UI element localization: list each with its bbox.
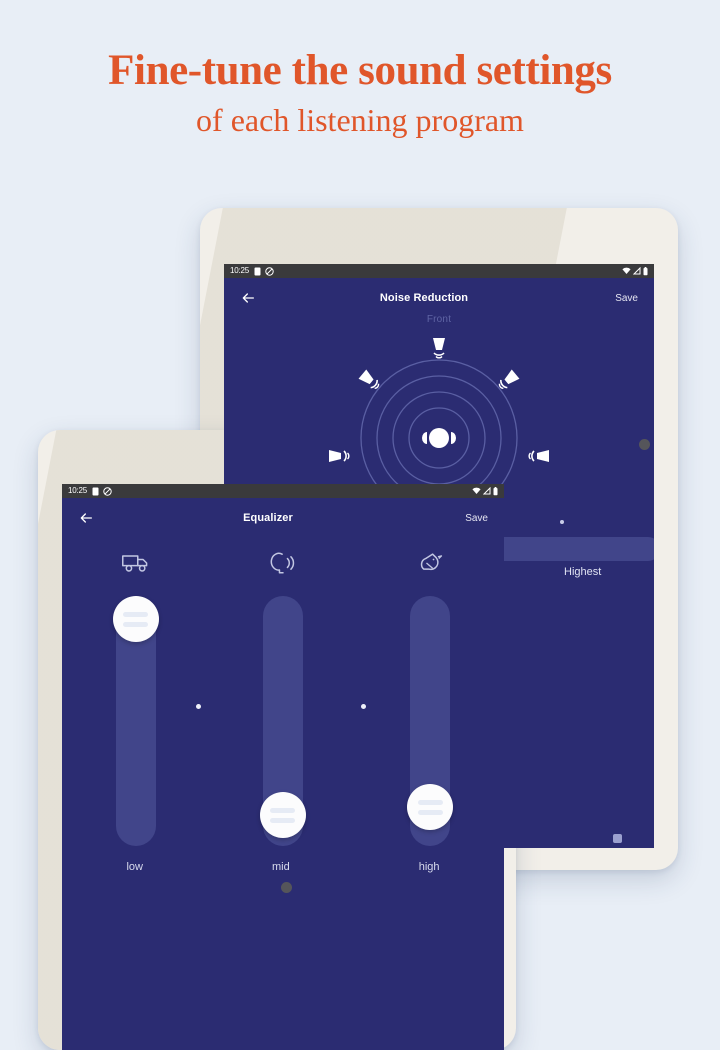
battery-icon	[493, 487, 498, 496]
band-label-low: low	[126, 861, 143, 873]
promo-stage: Fine-tune the sound settings of each lis…	[0, 0, 720, 960]
slider-tick-dot	[560, 520, 564, 524]
slider-value-label: Highest	[564, 566, 601, 578]
bird-icon	[415, 550, 445, 576]
status-bar: 10:25	[224, 264, 654, 278]
status-right-icons	[472, 487, 498, 496]
battery-icon	[643, 267, 648, 276]
headline-line-1: Fine-tune the sound settings	[0, 48, 720, 93]
slider-thumb-low[interactable]	[113, 596, 159, 642]
speaking-head-icon	[268, 550, 298, 576]
head-top-view-icon	[422, 428, 456, 448]
app-bar-equalizer: Equalizer Save	[62, 498, 504, 538]
slider-tick-dot	[196, 704, 201, 709]
status-time: 10:25	[230, 267, 249, 275]
front-camera	[281, 882, 292, 893]
signal-icon	[633, 267, 641, 275]
save-data-icon	[92, 487, 99, 496]
save-button[interactable]: Save	[592, 293, 638, 304]
slider-low[interactable]	[113, 596, 159, 846]
equalizer-band-icons	[62, 550, 504, 576]
speaker-icon-right	[529, 450, 549, 462]
app-bar-title: Equalizer	[94, 512, 442, 524]
save-data-icon	[254, 267, 261, 276]
page-title: Fine-tune the sound settings of each lis…	[0, 48, 720, 144]
status-time: 10:25	[68, 487, 87, 495]
status-left-icons	[254, 267, 274, 276]
back-arrow-icon[interactable]	[240, 290, 256, 306]
speaker-icon-front-right	[497, 370, 520, 392]
status-bar: 10:25	[62, 484, 504, 498]
grip-line	[270, 818, 295, 823]
grip-line	[123, 612, 148, 617]
band-label-mid: mid	[272, 861, 290, 873]
slider-track-low[interactable]	[116, 606, 156, 846]
front-direction-label: Front	[224, 314, 654, 325]
speaker-icon-left	[329, 450, 349, 462]
status-right-icons	[622, 267, 648, 276]
save-button[interactable]: Save	[442, 513, 488, 524]
nav-square-icon[interactable]	[613, 834, 622, 843]
slider-thumb-high[interactable]	[407, 784, 453, 830]
headline-line-2: of each listening program	[0, 97, 720, 143]
app-bar-title: Noise Reduction	[256, 292, 592, 304]
back-arrow-icon[interactable]	[78, 510, 94, 526]
wifi-icon	[622, 267, 631, 275]
do-not-disturb-icon	[265, 267, 274, 276]
grip-line	[418, 810, 443, 815]
slider-tick-dot	[361, 704, 366, 709]
grip-line	[123, 622, 148, 627]
status-left-icons	[92, 487, 112, 496]
slider-mid[interactable]	[260, 596, 306, 846]
equalizer-sliders	[62, 596, 504, 846]
speaker-icon-front-left	[359, 370, 382, 392]
signal-icon	[483, 487, 491, 495]
screen-equalizer: 10:25	[62, 484, 504, 1050]
app-bar-noise-reduction: Noise Reduction Save	[224, 278, 654, 318]
slider-thumb-mid[interactable]	[260, 792, 306, 838]
do-not-disturb-icon	[103, 487, 112, 496]
equalizer-band-labels: low mid high	[62, 861, 504, 873]
grip-line	[270, 808, 295, 813]
truck-icon	[121, 550, 151, 576]
speaker-icon-front	[433, 338, 445, 358]
slider-high[interactable]	[407, 596, 453, 846]
grip-line	[418, 800, 443, 805]
band-label-high: high	[419, 861, 440, 873]
front-camera	[639, 439, 650, 450]
tablet-front: 10:25	[38, 430, 516, 1050]
wifi-icon	[472, 487, 481, 495]
